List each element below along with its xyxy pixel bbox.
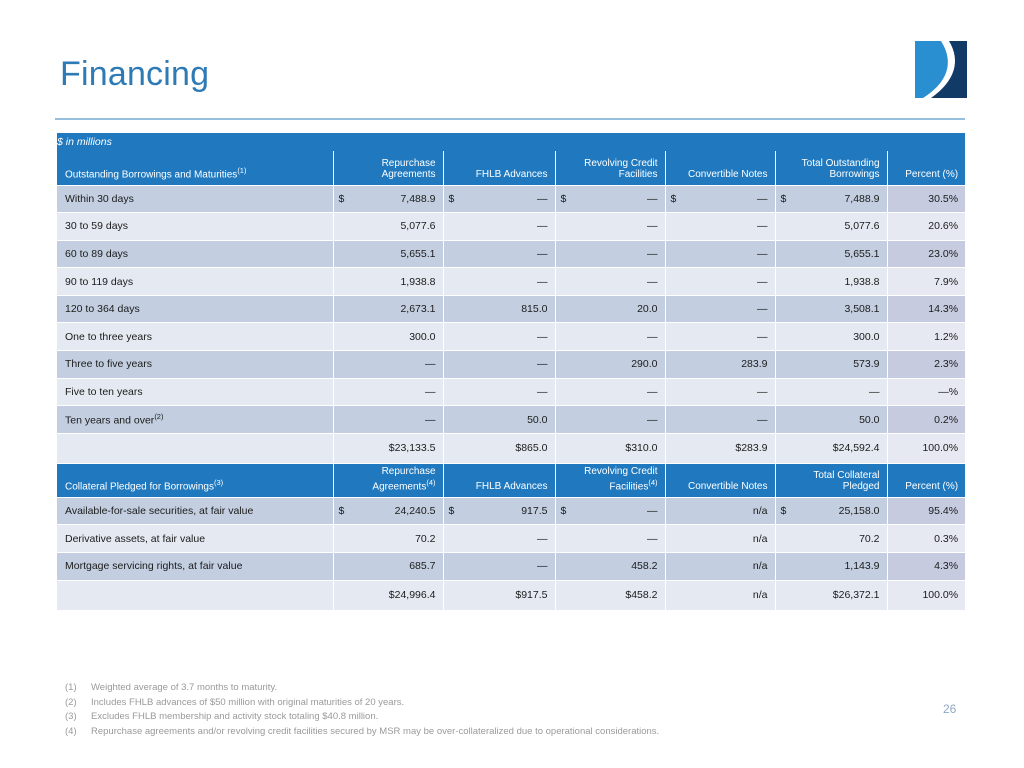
percent-cell: 2.3% — [887, 351, 965, 379]
table-cell: 70.2 — [775, 525, 887, 553]
table-cell: — — [443, 240, 555, 268]
currency-symbol: $ — [515, 589, 521, 601]
table-cell: 3,508.1 — [775, 295, 887, 323]
footnote-number: (2) — [65, 696, 91, 711]
table-cell: 5,077.6 — [775, 213, 887, 241]
table-row: One to three years300.0———300.01.2% — [57, 323, 965, 351]
total-percent-cell: 100.0% — [887, 433, 965, 463]
table-cell: — — [443, 323, 555, 351]
table-cell: — — [333, 351, 443, 379]
currency-symbol: $ — [449, 505, 455, 517]
table-row: Mortgage servicing rights, at fair value… — [57, 553, 965, 581]
table-row: Ten years and over(2)—50.0——50.00.2% — [57, 406, 965, 434]
table-cell: 5,077.6 — [333, 213, 443, 241]
row-label: Derivative assets, at fair value — [57, 525, 333, 553]
total-label — [57, 580, 333, 610]
column-header: Outstanding Borrowings and Maturities(1) — [57, 151, 333, 185]
table-cell: — — [665, 268, 775, 296]
column-header: FHLB Advances — [443, 151, 555, 185]
footnote-number: (4) — [65, 725, 91, 740]
footnote-text: Includes FHLB advances of $50 million wi… — [91, 696, 404, 711]
footnote-marker: (3) — [214, 478, 223, 487]
table-cell: $25,158.0 — [775, 497, 887, 525]
units-note-row: $ in millions — [57, 133, 965, 151]
table-cell: $7,488.9 — [333, 185, 443, 213]
footnote-number: (3) — [65, 710, 91, 725]
currency-symbol: $ — [833, 589, 839, 601]
footnote-text: Excludes FHLB membership and activity st… — [91, 710, 378, 725]
table-cell: 290.0 — [555, 351, 665, 379]
footnote-text: Weighted average of 3.7 months to maturi… — [91, 681, 277, 696]
currency-symbol: $ — [339, 505, 345, 517]
percent-cell: 0.3% — [887, 525, 965, 553]
total-row: $23,133.5$865.0$310.0$283.9$24,592.4100.… — [57, 433, 965, 463]
table-row: Available-for-sale securities, at fair v… — [57, 497, 965, 525]
column-header: Convertible Notes — [665, 151, 775, 185]
table-cell: $— — [665, 185, 775, 213]
table-cell: — — [443, 553, 555, 581]
total-row: $24,996.4$917.5$458.2n/a$26,372.1100.0% — [57, 580, 965, 610]
column-header: Revolving Credit Facilities — [555, 151, 665, 185]
table-cell: — — [665, 406, 775, 434]
table-cell: — — [555, 213, 665, 241]
percent-cell: 0.2% — [887, 406, 965, 434]
table-cell: $— — [443, 185, 555, 213]
table-cell: — — [665, 213, 775, 241]
table-cell: 5,655.1 — [775, 240, 887, 268]
table-cell: $24,240.5 — [333, 497, 443, 525]
table-cell: $917.5 — [443, 497, 555, 525]
row-label: Three to five years — [57, 351, 333, 379]
row-label: One to three years — [57, 323, 333, 351]
percent-cell: 4.3% — [887, 553, 965, 581]
footnote-line: (1)Weighted average of 3.7 months to mat… — [65, 681, 865, 696]
table-cell: — — [555, 323, 665, 351]
column-header: Convertible Notes — [665, 463, 775, 497]
company-logo — [915, 41, 967, 98]
percent-cell: 95.4% — [887, 497, 965, 525]
title-divider — [55, 118, 965, 120]
row-label: 120 to 364 days — [57, 295, 333, 323]
total-cell: $458.2 — [555, 580, 665, 610]
footnote-text: Repurchase agreements and/or revolving c… — [91, 725, 659, 740]
table-header-row: Collateral Pledged for Borrowings(3)Repu… — [57, 463, 965, 497]
table-cell: 70.2 — [333, 525, 443, 553]
percent-cell: 7.9% — [887, 268, 965, 296]
table-cell: $— — [555, 497, 665, 525]
column-header: Total Outstanding Borrowings — [775, 151, 887, 185]
percent-cell: 30.5% — [887, 185, 965, 213]
percent-cell: 14.3% — [887, 295, 965, 323]
table-cell: 50.0 — [775, 406, 887, 434]
footnote-marker: (4) — [648, 478, 657, 487]
table-cell: 1,938.8 — [775, 268, 887, 296]
total-cell: $917.5 — [443, 580, 555, 610]
total-cell: $26,372.1 — [775, 580, 887, 610]
total-percent-cell: 100.0% — [887, 580, 965, 610]
currency-symbol: $ — [389, 589, 395, 601]
table-cell: 815.0 — [443, 295, 555, 323]
table-row: 30 to 59 days5,077.6———5,077.620.6% — [57, 213, 965, 241]
total-cell: $23,133.5 — [333, 433, 443, 463]
table-cell: 1,938.8 — [333, 268, 443, 296]
table-row: Derivative assets, at fair value70.2——n/… — [57, 525, 965, 553]
table-header-row: Outstanding Borrowings and Maturities(1)… — [57, 151, 965, 185]
row-label: 60 to 89 days — [57, 240, 333, 268]
table-row: 60 to 89 days5,655.1———5,655.123.0% — [57, 240, 965, 268]
footnote-number: (1) — [65, 681, 91, 696]
currency-symbol: $ — [515, 442, 521, 454]
footnote-line: (2)Includes FHLB advances of $50 million… — [65, 696, 865, 711]
table-cell: 300.0 — [333, 323, 443, 351]
column-header: Repurchase Agreements — [333, 151, 443, 185]
column-header: Collateral Pledged for Borrowings(3) — [57, 463, 333, 497]
table-row: Three to five years——290.0283.9573.92.3% — [57, 351, 965, 379]
table-cell: — — [665, 295, 775, 323]
table-cell: 50.0 — [443, 406, 555, 434]
financing-table: $ in millionsOutstanding Borrowings and … — [57, 133, 965, 611]
footnotes: (1)Weighted average of 3.7 months to mat… — [65, 681, 865, 739]
currency-symbol: $ — [561, 505, 567, 517]
table-cell: — — [665, 323, 775, 351]
total-cell: $24,996.4 — [333, 580, 443, 610]
table-row: Five to ten years——————% — [57, 378, 965, 406]
currency-symbol: $ — [671, 193, 677, 205]
total-cell: $310.0 — [555, 433, 665, 463]
page-number: 26 — [943, 702, 956, 716]
table-cell: n/a — [665, 525, 775, 553]
currency-symbol: $ — [625, 442, 631, 454]
table-cell: — — [555, 525, 665, 553]
column-header: Percent (%) — [887, 463, 965, 497]
table-cell: — — [665, 240, 775, 268]
row-label: Mortgage servicing rights, at fair value — [57, 553, 333, 581]
table-cell: n/a — [665, 553, 775, 581]
row-label: Ten years and over(2) — [57, 406, 333, 434]
total-cell: n/a — [665, 580, 775, 610]
percent-cell: —% — [887, 378, 965, 406]
financing-tables: $ in millionsOutstanding Borrowings and … — [57, 133, 965, 611]
table-cell: — — [333, 406, 443, 434]
table-cell: — — [775, 378, 887, 406]
table-row: Within 30 days$7,488.9$—$—$—$7,488.930.5… — [57, 185, 965, 213]
table-cell: 300.0 — [775, 323, 887, 351]
currency-symbol: $ — [389, 442, 395, 454]
row-label: Available-for-sale securities, at fair v… — [57, 497, 333, 525]
table-cell: 458.2 — [555, 553, 665, 581]
table-cell: — — [443, 268, 555, 296]
table-row: 120 to 364 days2,673.1815.020.0—3,508.11… — [57, 295, 965, 323]
table-cell: — — [443, 351, 555, 379]
percent-cell: 23.0% — [887, 240, 965, 268]
row-label: 90 to 119 days — [57, 268, 333, 296]
footnote-marker: (1) — [237, 166, 246, 175]
table-cell: 685.7 — [333, 553, 443, 581]
row-label: Five to ten years — [57, 378, 333, 406]
column-header: Total Collateral Pledged — [775, 463, 887, 497]
table-cell: — — [555, 406, 665, 434]
column-header: Revolving Credit Facilities(4) — [555, 463, 665, 497]
table-cell: 573.9 — [775, 351, 887, 379]
column-header: Repurchase Agreements(4) — [333, 463, 443, 497]
percent-cell: 20.6% — [887, 213, 965, 241]
currency-symbol: $ — [781, 193, 787, 205]
table-cell: 5,655.1 — [333, 240, 443, 268]
units-note: $ in millions — [57, 133, 965, 151]
footnote-line: (4)Repurchase agreements and/or revolvin… — [65, 725, 865, 740]
currency-symbol: $ — [735, 442, 741, 454]
table-cell: — — [555, 268, 665, 296]
currency-symbol: $ — [833, 442, 839, 454]
table-row: 90 to 119 days1,938.8———1,938.87.9% — [57, 268, 965, 296]
row-label: Within 30 days — [57, 185, 333, 213]
total-cell: $283.9 — [665, 433, 775, 463]
table-cell: — — [555, 240, 665, 268]
table-cell: — — [555, 378, 665, 406]
table-cell: $7,488.9 — [775, 185, 887, 213]
total-label — [57, 433, 333, 463]
table-cell: 1,143.9 — [775, 553, 887, 581]
currency-symbol: $ — [449, 193, 455, 205]
currency-symbol: $ — [561, 193, 567, 205]
currency-symbol: $ — [339, 193, 345, 205]
table-cell: — — [443, 213, 555, 241]
table-cell: 283.9 — [665, 351, 775, 379]
footnote-line: (3)Excludes FHLB membership and activity… — [65, 710, 865, 725]
total-cell: $865.0 — [443, 433, 555, 463]
table-cell: — — [333, 378, 443, 406]
table-cell: — — [443, 378, 555, 406]
table-cell: 20.0 — [555, 295, 665, 323]
table-cell: 2,673.1 — [333, 295, 443, 323]
percent-cell: 1.2% — [887, 323, 965, 351]
table-cell: n/a — [665, 497, 775, 525]
row-label: 30 to 59 days — [57, 213, 333, 241]
table-cell: — — [665, 378, 775, 406]
column-header: FHLB Advances — [443, 463, 555, 497]
currency-symbol: $ — [781, 505, 787, 517]
footnote-marker: (4) — [426, 478, 435, 487]
table-cell: — — [443, 525, 555, 553]
footnote-marker: (2) — [154, 412, 163, 421]
table-cell: $— — [555, 185, 665, 213]
column-header: Percent (%) — [887, 151, 965, 185]
total-cell: $24,592.4 — [775, 433, 887, 463]
currency-symbol: $ — [625, 589, 631, 601]
page-title: Financing — [60, 55, 209, 94]
